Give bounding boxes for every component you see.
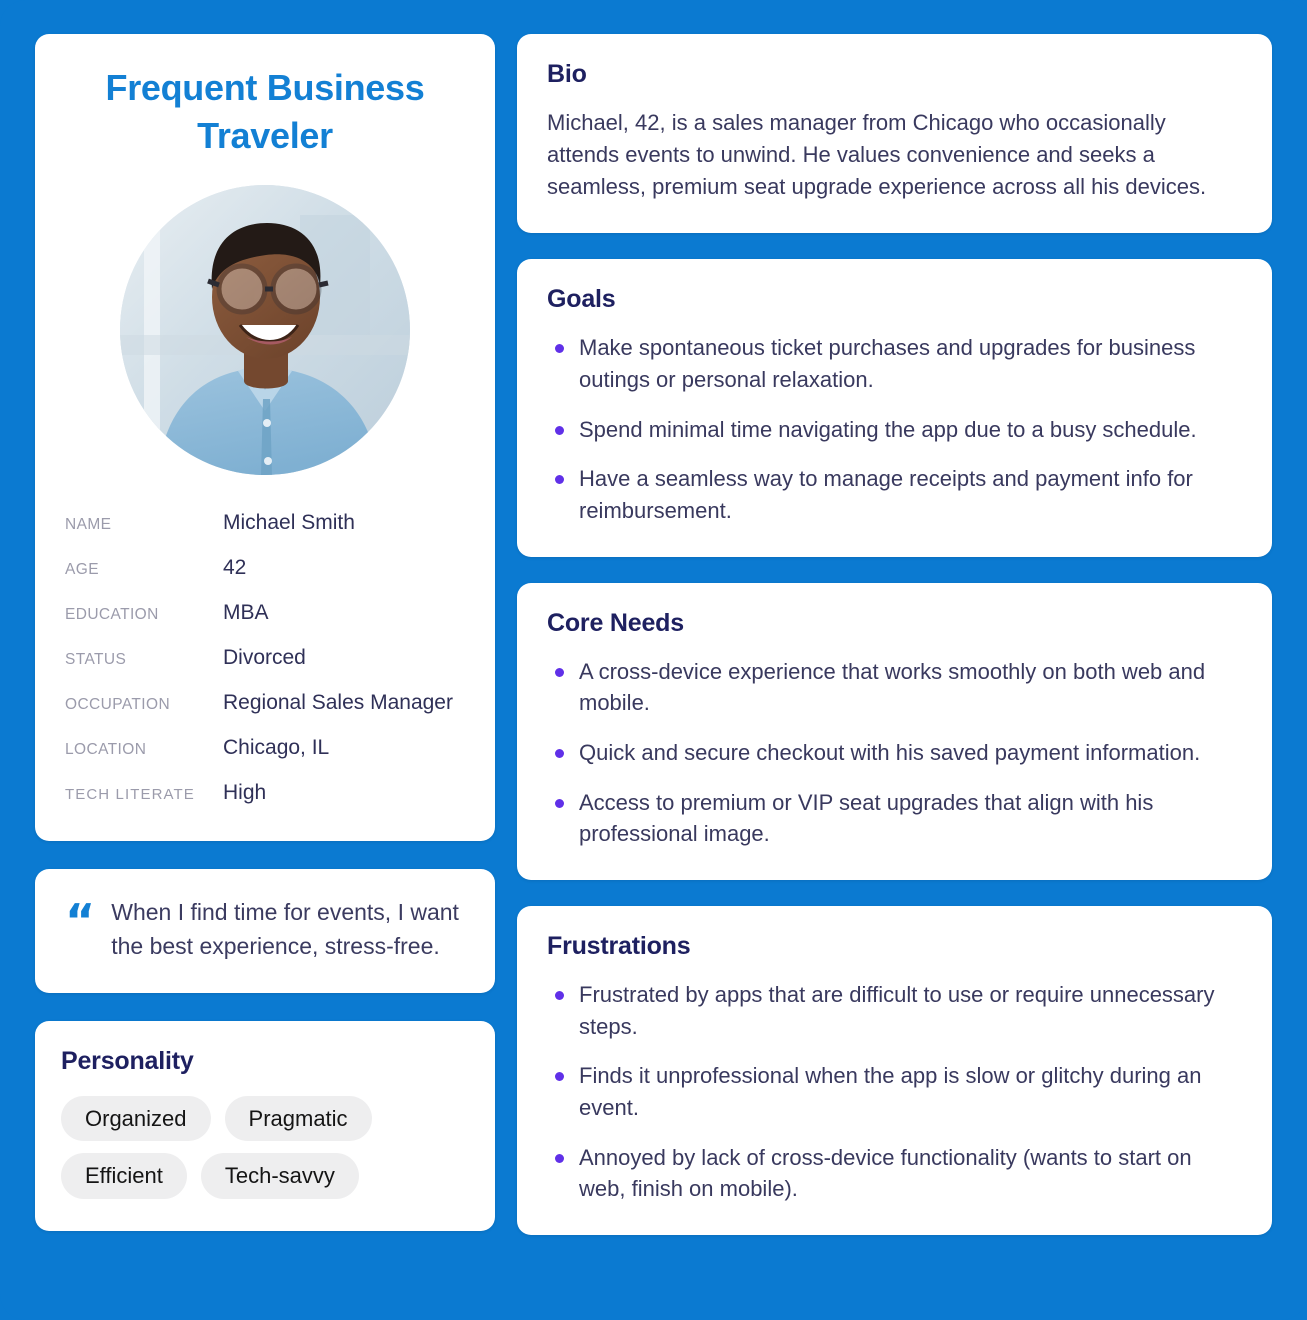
profile-card: Frequent Business Traveler xyxy=(35,34,495,841)
personality-tag[interactable]: Organized xyxy=(61,1096,211,1142)
avatar-wrapper xyxy=(65,185,465,475)
detail-label-name: NAME xyxy=(65,509,213,537)
detail-value-location: Chicago, IL xyxy=(223,734,465,762)
detail-value-name: Michael Smith xyxy=(223,509,465,537)
frustrations-list: Frustrated by apps that are difficult to… xyxy=(547,979,1242,1205)
left-column: Frequent Business Traveler xyxy=(35,34,495,1231)
list-item: Make spontaneous ticket purchases and up… xyxy=(547,332,1242,395)
list-item: Have a seamless way to manage receipts a… xyxy=(547,463,1242,526)
core-needs-heading: Core Needs xyxy=(547,609,1242,638)
list-item: Quick and secure checkout with his saved… xyxy=(547,737,1242,769)
detail-label-occupation: OCCUPATION xyxy=(65,689,213,717)
avatar xyxy=(120,185,410,475)
quote-card: “ When I find time for events, I want th… xyxy=(35,869,495,993)
profile-details-table: NAME Michael Smith AGE 42 EDUCATION MBA … xyxy=(65,509,465,807)
goals-heading: Goals xyxy=(547,285,1242,314)
list-item: Spend minimal time navigating the app du… xyxy=(547,414,1242,446)
quote-mark-icon: “ xyxy=(65,895,95,938)
avatar-portrait-icon xyxy=(120,185,410,475)
detail-label-age: AGE xyxy=(65,554,213,582)
core-needs-card: Core Needs A cross-device experience tha… xyxy=(517,583,1272,880)
personality-tag[interactable]: Pragmatic xyxy=(225,1096,372,1142)
detail-value-occupation: Regional Sales Manager xyxy=(223,689,465,717)
core-needs-list: A cross-device experience that works smo… xyxy=(547,656,1242,850)
list-item: Frustrated by apps that are difficult to… xyxy=(547,979,1242,1042)
personality-tag[interactable]: Tech-savvy xyxy=(201,1153,359,1199)
detail-label-status: STATUS xyxy=(65,644,213,672)
list-item: Annoyed by lack of cross-device function… xyxy=(547,1142,1242,1205)
detail-label-tech-literate: TECH LITERATE xyxy=(65,779,213,806)
detail-value-status: Divorced xyxy=(223,644,465,672)
detail-value-education: MBA xyxy=(223,599,465,627)
bio-text: Michael, 42, is a sales manager from Chi… xyxy=(547,107,1242,203)
persona-page: Frequent Business Traveler xyxy=(0,0,1307,1320)
detail-value-age: 42 xyxy=(223,554,465,582)
personality-card: Personality Organized Pragmatic Efficien… xyxy=(35,1021,495,1231)
frustrations-heading: Frustrations xyxy=(547,932,1242,961)
bio-heading: Bio xyxy=(547,60,1242,89)
goals-card: Goals Make spontaneous ticket purchases … xyxy=(517,259,1272,556)
list-item: Finds it unprofessional when the app is … xyxy=(547,1060,1242,1123)
bio-card: Bio Michael, 42, is a sales manager from… xyxy=(517,34,1272,233)
quote-text: When I find time for events, I want the … xyxy=(111,895,465,963)
right-column: Bio Michael, 42, is a sales manager from… xyxy=(517,34,1272,1235)
frustrations-card: Frustrations Frustrated by apps that are… xyxy=(517,906,1272,1235)
personality-tag-list: Organized Pragmatic Efficient Tech-savvy xyxy=(61,1096,469,1199)
detail-label-location: LOCATION xyxy=(65,734,213,762)
page-title: Frequent Business Traveler xyxy=(65,64,465,159)
personality-heading: Personality xyxy=(61,1047,469,1076)
detail-value-tech-literate: High xyxy=(223,779,465,807)
goals-list: Make spontaneous ticket purchases and up… xyxy=(547,332,1242,526)
list-item: Access to premium or VIP seat upgrades t… xyxy=(547,787,1242,850)
list-item: A cross-device experience that works smo… xyxy=(547,656,1242,719)
personality-tag[interactable]: Efficient xyxy=(61,1153,187,1199)
detail-label-education: EDUCATION xyxy=(65,599,213,627)
